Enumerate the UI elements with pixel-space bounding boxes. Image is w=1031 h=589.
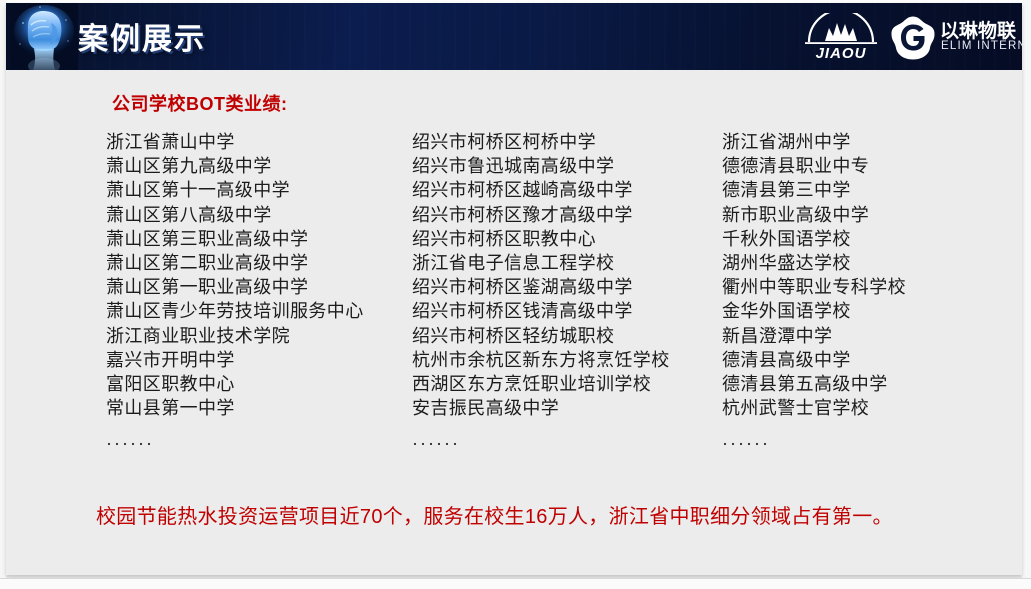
list-item: 萧山区第二职业高级中学: [106, 251, 364, 275]
slide-root: 案例展示 JIAOU 以琳物联 ELIM INTERNET 公司学校BOT类业绩…: [0, 0, 1031, 589]
list-item: 金华外国语学校: [722, 299, 906, 323]
list-item: 德德清县职业中专: [722, 154, 906, 178]
page-edge-bottom: [0, 578, 1031, 589]
slide-header-band: 案例展示 JIAOU 以琳物联 ELIM INTERNET: [6, 3, 1022, 70]
list-item: 德清县第五高级中学: [722, 372, 906, 396]
list-item: 绍兴市柯桥区钱清高级中学: [412, 299, 670, 323]
list-item: 绍兴市柯桥区柯桥中学: [412, 130, 670, 154]
page-edge-right: [1022, 0, 1031, 578]
list-item: 杭州市余杭区新东方将烹饪学校: [412, 348, 670, 372]
blue-fist-graphic: [10, 3, 78, 70]
school-column-2: 绍兴市柯桥区柯桥中学 绍兴市鲁迅城南高级中学 绍兴市柯桥区越崎高级中学 绍兴市柯…: [412, 130, 670, 457]
list-item: 千秋外国语学校: [722, 227, 906, 251]
school-column-3: 浙江省湖州中学 德德清县职业中专 德清县第三中学 新市职业高级中学 千秋外国语学…: [722, 130, 906, 457]
footnote-summary: 校园节能热水投资运营项目近70个，服务在校生16万人，浙江省中职细分领域占有第一…: [96, 500, 893, 529]
list-item: 绍兴市鲁迅城南高级中学: [412, 154, 670, 178]
list-item: 杭州武警士官学校: [722, 396, 906, 420]
list-item: 嘉兴市开明中学: [106, 348, 364, 372]
list-item: 萧山区第一职业高级中学: [106, 275, 364, 299]
jiaou-wordmark: JIAOU: [799, 45, 883, 62]
list-item: 萧山区第十一高级中学: [106, 178, 364, 202]
list-item: 常山县第一中学: [106, 396, 364, 420]
list-item: 新昌澄潭中学: [722, 324, 906, 348]
list-item: 绍兴市柯桥区职教中心: [412, 227, 670, 251]
list-item: 绍兴市柯桥区越崎高级中学: [412, 178, 670, 202]
list-item: 萧山区青少年劳技培训服务中心: [106, 299, 364, 323]
school-column-1: 浙江省萧山中学 萧山区第九高级中学 萧山区第十一高级中学 萧山区第八高级中学 萧…: [106, 130, 364, 457]
list-item: 衢州中等职业专科学校: [722, 275, 906, 299]
list-ellipsis: ······: [106, 432, 364, 456]
jiaou-arch-crown-logo: JIAOU: [799, 13, 883, 63]
list-ellipsis: ······: [722, 432, 906, 456]
list-item: 绍兴市柯桥区鉴湖高级中学: [412, 275, 670, 299]
list-item: 浙江省电子信息工程学校: [412, 251, 670, 275]
elim-name-cn: 以琳物联: [940, 16, 1016, 43]
list-item: 浙江商业职业技术学院: [106, 324, 364, 348]
list-item: 萧山区第八高级中学: [106, 203, 364, 227]
page-title: 案例展示: [78, 14, 206, 58]
list-item: 萧山区第九高级中学: [106, 154, 364, 178]
list-item: 安吉振民高级中学: [412, 396, 670, 420]
list-ellipsis: ······: [412, 432, 670, 456]
list-item: 绍兴市柯桥区轻纺城职校: [412, 324, 670, 348]
list-item: 德清县高级中学: [722, 348, 906, 372]
section-title: 公司学校BOT类业绩:: [112, 90, 288, 116]
list-item: 德清县第三中学: [722, 178, 906, 202]
list-item: 湖州华盛达学校: [722, 251, 906, 275]
list-item: 浙江省萧山中学: [106, 130, 364, 154]
list-item: 浙江省湖州中学: [722, 130, 906, 154]
list-item: 萧山区第三职业高级中学: [106, 227, 364, 251]
list-item: 新市职业高级中学: [722, 203, 906, 227]
elim-hexagon-g-logo: 以琳物联 ELIM INTERNET: [890, 15, 1022, 61]
list-item: 西湖区东方烹饪职业培训学校: [412, 372, 670, 396]
elim-name-en: ELIM INTERNET: [941, 40, 1022, 52]
list-item: 富阳区职教中心: [106, 372, 364, 396]
list-item: 绍兴市柯桥区豫才高级中学: [412, 203, 670, 227]
